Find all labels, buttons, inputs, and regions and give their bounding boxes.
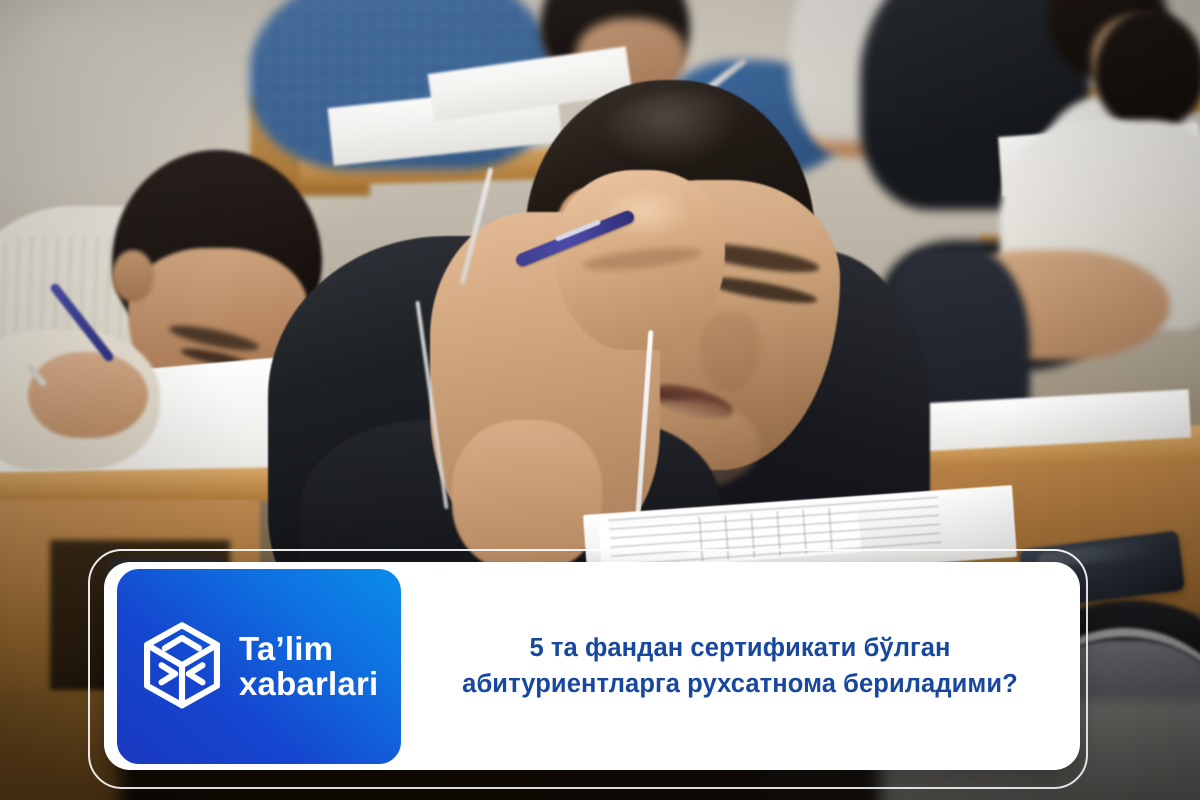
headline-container: 5 та фандан сертификати бўлган абитуриен…	[410, 562, 1070, 770]
left-student-hand	[28, 352, 148, 438]
main-student-hair-highlight	[600, 92, 770, 182]
headline-text: 5 та фандан сертификати бўлган абитуриен…	[462, 630, 1018, 702]
right-student-head	[1095, 10, 1200, 130]
news-banner-screenshot: Ta’lim xabarlari 5 та фандан сертификати…	[0, 0, 1200, 800]
main-student-wrist	[452, 420, 602, 570]
brand-name: Ta’lim xabarlari	[239, 632, 378, 702]
left-student-ear	[112, 250, 154, 302]
hexagon-cube-arrows-icon	[139, 621, 225, 713]
brand-logo-box[interactable]: Ta’lim xabarlari	[113, 565, 405, 768]
